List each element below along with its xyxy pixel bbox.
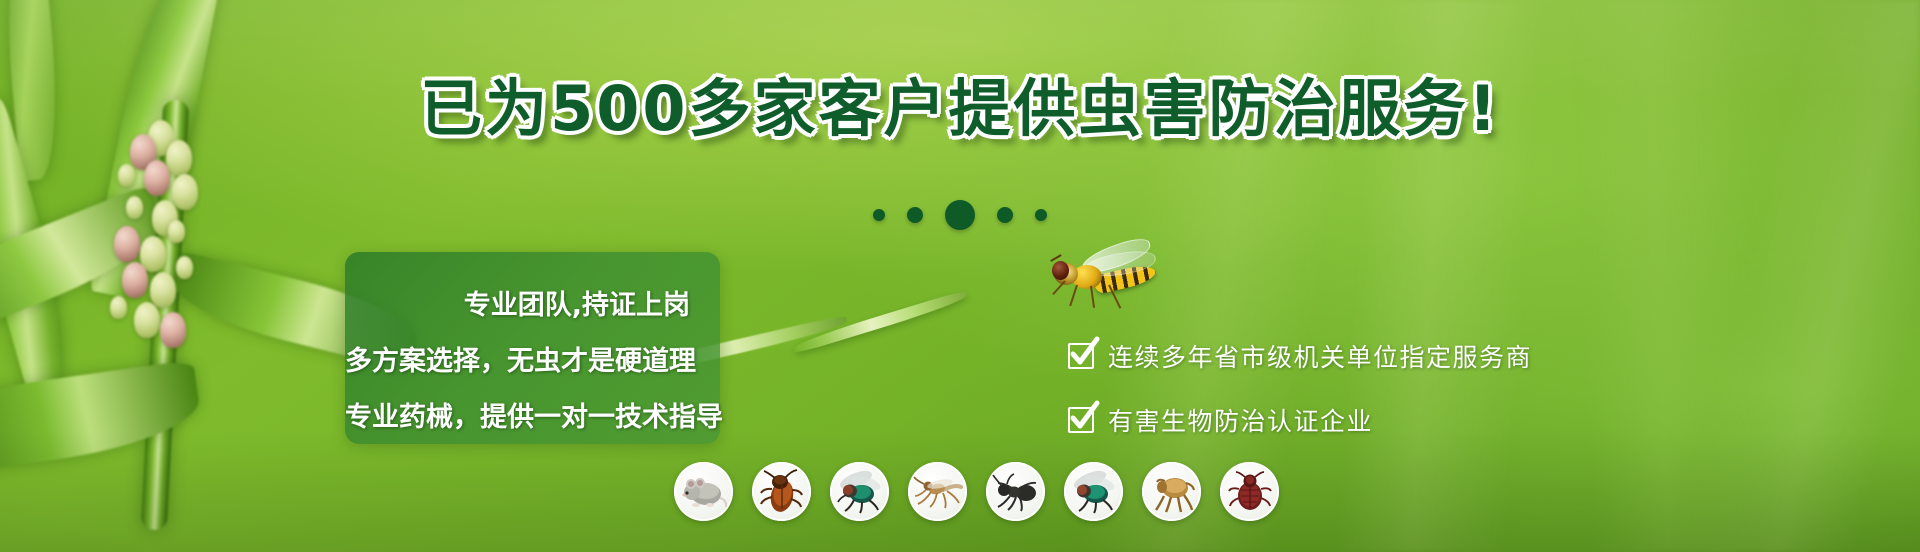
- checkbox-checked-icon: [1068, 407, 1094, 433]
- pest-icon-mosquito[interactable]: [908, 462, 967, 521]
- pest-icon-row: [674, 462, 1279, 521]
- feature-label-2: 有害生物防治认证企业: [1108, 402, 1373, 438]
- pest-icon-mouse[interactable]: [674, 462, 733, 521]
- promo-line-1: 专业团队,持证上岗: [345, 283, 712, 322]
- dot-small-left: [873, 209, 885, 221]
- feature-item-1: 连续多年省市级机关单位指定服务商: [1068, 338, 1532, 374]
- pest-icon-ant[interactable]: [986, 462, 1045, 521]
- promo-line-3: 专业药械，提供一对一技术指导: [345, 395, 712, 434]
- pest-icon-fly[interactable]: [830, 462, 889, 521]
- promo-text-panel: 专业团队,持证上岗 多方案选择，无虫才是硬道理 专业药械，提供一对一技术指导: [345, 252, 720, 444]
- checkbox-checked-icon: [1068, 343, 1094, 369]
- decorative-dot-row: [0, 200, 1920, 230]
- banner-headline-text: 已为500多家客户提供虫害防治服务!: [420, 72, 1500, 145]
- promo-line-2: 多方案选择，无虫才是硬道理: [345, 339, 712, 378]
- pest-icon-cockroach[interactable]: [752, 462, 811, 521]
- dot-large-center: [945, 200, 975, 230]
- dot-small-right: [1035, 209, 1047, 221]
- pest-icon-blowfly[interactable]: [1064, 462, 1123, 521]
- dot-medium-left: [907, 207, 923, 223]
- dot-medium-right: [997, 207, 1013, 223]
- pest-icon-bedbug[interactable]: [1220, 462, 1279, 521]
- banner-headline: 已为500多家客户提供虫害防治服务!: [0, 78, 1920, 140]
- pest-control-hero-banner: 已为500多家客户提供虫害防治服务! 专业团队,持证上岗 多方案选择，无虫才是硬…: [0, 0, 1920, 552]
- pest-icon-flea[interactable]: [1142, 462, 1201, 521]
- feature-list: 连续多年省市级机关单位指定服务商 有害生物防治认证企业: [1068, 338, 1532, 438]
- feature-item-2: 有害生物防治认证企业: [1068, 402, 1532, 438]
- feature-label-1: 连续多年省市级机关单位指定服务商: [1108, 338, 1532, 374]
